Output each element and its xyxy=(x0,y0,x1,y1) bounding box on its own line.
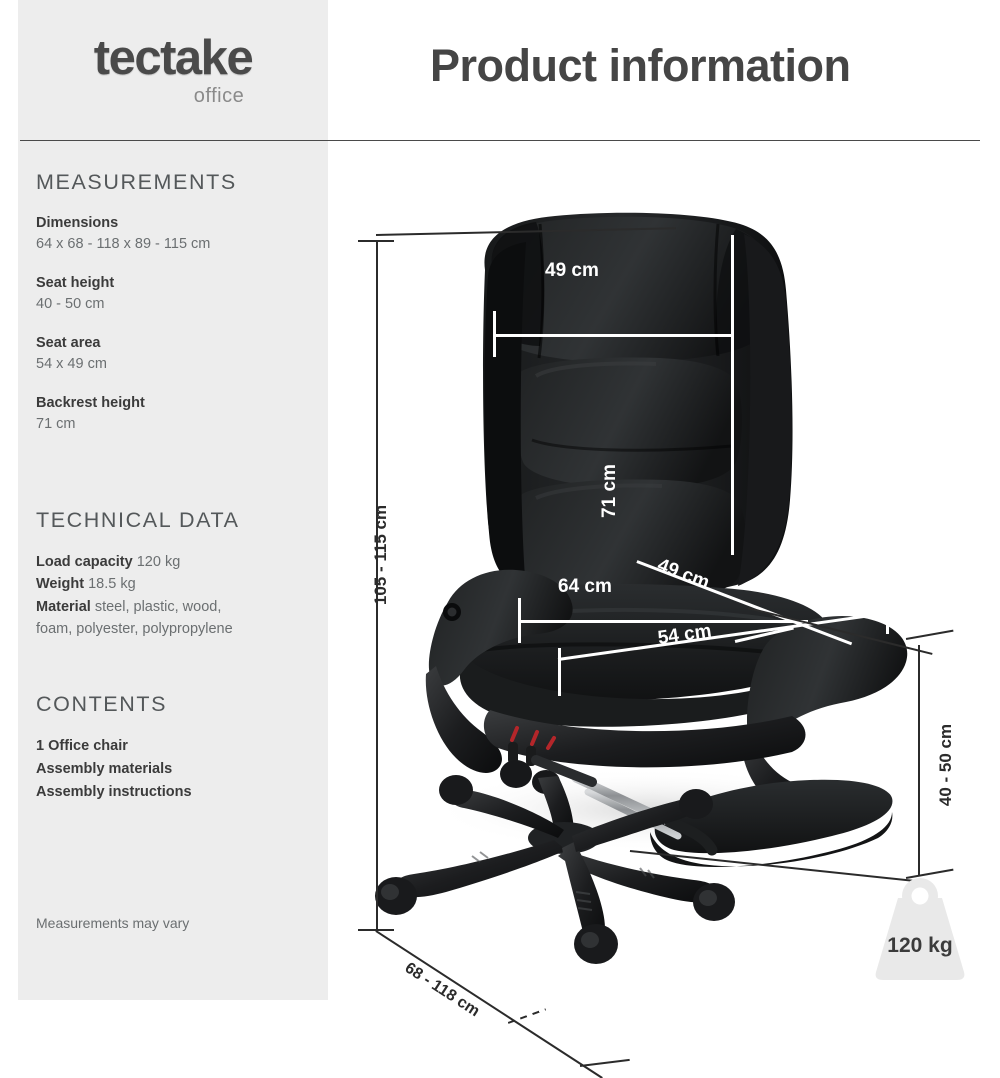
headrest-width-right-tick xyxy=(731,235,734,555)
headrest-width-line xyxy=(493,334,733,337)
contents-item: Assembly instructions xyxy=(36,781,316,804)
headrest-width-left-tick xyxy=(493,311,496,357)
header-divider xyxy=(20,140,980,141)
dimension-label-back-width: 64 cm xyxy=(558,576,612,598)
seat-width-left-tick xyxy=(558,648,561,696)
tech-load-capacity: Load capacity 120 kg xyxy=(36,551,316,573)
dimension-label-backrest-height: 71 cm xyxy=(599,464,621,518)
spec-seat-height: Seat height 40 - 50 cm xyxy=(36,273,316,315)
total-height-top-tick xyxy=(358,240,394,242)
spec-value: 40 - 50 cm xyxy=(36,294,316,315)
brand-wordmark: tectake xyxy=(18,34,328,83)
seat-height-line xyxy=(918,645,920,875)
spec-value: 64 x 68 - 118 x 89 - 115 cm xyxy=(36,234,316,255)
tech-material-cont: foam, polyester, polypropylene xyxy=(36,618,316,640)
measurements-section: MEASUREMENTS Dimensions 64 x 68 - 118 x … xyxy=(36,170,316,453)
page-title: Product information xyxy=(430,40,850,92)
tech-label: Weight xyxy=(36,576,84,592)
tech-value: 120 kg xyxy=(133,554,181,570)
spec-value: 71 cm xyxy=(36,414,316,435)
dimension-label-headrest-width: 49 cm xyxy=(545,260,599,282)
measurements-heading: MEASUREMENTS xyxy=(36,170,316,195)
weight-badge-value: 120 kg xyxy=(858,934,982,958)
technical-data-section: TECHNICAL DATA Load capacity 120 kg Weig… xyxy=(36,508,316,641)
spec-value: 54 x 49 cm xyxy=(36,354,316,375)
spec-label: Seat height xyxy=(36,273,316,294)
tech-material: Material steel, plastic, wood, xyxy=(36,596,316,618)
spec-backrest-height: Backrest height 71 cm xyxy=(36,393,316,435)
back-width-left-tick xyxy=(518,598,521,643)
contents-item: 1 Office chair xyxy=(36,735,316,758)
total-depth-end-tick xyxy=(580,1059,630,1067)
spec-label: Dimensions xyxy=(36,213,316,234)
backrest-left-bolster xyxy=(484,242,526,590)
brand-subtitle: office xyxy=(18,85,334,108)
tech-label: Material xyxy=(36,599,91,615)
technical-data-heading: TECHNICAL DATA xyxy=(36,508,316,533)
seat-width-right-tick xyxy=(886,598,889,634)
total-depth-dash xyxy=(508,1008,546,1023)
measurement-disclaimer: Measurements may vary xyxy=(36,915,189,931)
weight-icon xyxy=(858,872,982,984)
tech-value: steel, plastic, wood, xyxy=(91,599,222,615)
tech-weight: Weight 18.5 kg xyxy=(36,573,316,595)
contents-item: Assembly materials xyxy=(36,758,316,781)
tech-label: Load capacity xyxy=(36,554,133,570)
dimension-label-seat-height: 40 - 50 cm xyxy=(936,724,956,806)
sidebar-panel: tectake office MEASUREMENTS Dimensions 6… xyxy=(18,0,328,1000)
back-width-line xyxy=(518,620,808,623)
weight-capacity-badge: 120 kg xyxy=(858,872,982,984)
spec-seat-area: Seat area 54 x 49 cm xyxy=(36,333,316,375)
spec-label: Backrest height xyxy=(36,393,316,414)
tech-value: 18.5 kg xyxy=(84,576,136,592)
brand-logo: tectake office xyxy=(18,34,328,108)
contents-heading: CONTENTS xyxy=(36,692,316,717)
spec-label: Seat area xyxy=(36,333,316,354)
spec-dimensions: Dimensions 64 x 68 - 118 x 89 - 115 cm xyxy=(36,213,316,255)
contents-section: CONTENTS 1 Office chair Assembly materia… xyxy=(36,692,316,804)
dimension-label-total-height: 105 - 115 cm xyxy=(371,505,391,605)
upper-lumbar-cushion xyxy=(517,358,742,488)
